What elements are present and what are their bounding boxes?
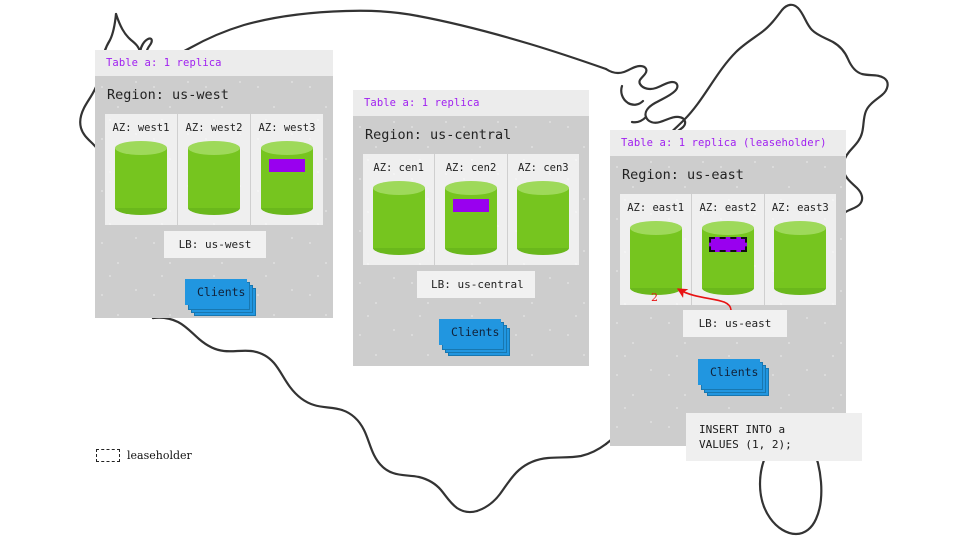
az-label-cen3: AZ: cen3	[508, 162, 579, 174]
legend-leaseholder: leaseholder	[96, 449, 192, 462]
cylinder-body	[630, 228, 682, 288]
clients-stack-us-east[interactable]: Clients	[698, 359, 760, 385]
az-label-west3: AZ: west3	[251, 122, 323, 134]
node-cylinder-east2[interactable]	[702, 221, 754, 295]
cylinder-top	[445, 181, 497, 195]
az-label-west1: AZ: west1	[105, 122, 177, 134]
cylinder-body	[373, 188, 425, 248]
load-balancer-us-west[interactable]: LB: us-west	[164, 231, 266, 258]
az-cell-east2[interactable]: AZ: east2	[692, 194, 764, 305]
replica-note-us-east: Table a: 1 replica (leaseholder)	[610, 130, 846, 156]
node-cylinder-west3[interactable]	[261, 141, 313, 215]
sql-statement-box: INSERT INTO a VALUES (1, 2);	[686, 413, 862, 461]
az-label-east1: AZ: east1	[620, 202, 691, 214]
leaseholder-marker-east2	[709, 237, 747, 252]
az-label-cen1: AZ: cen1	[363, 162, 434, 174]
az-label-west2: AZ: west2	[178, 122, 250, 134]
clients-stack-us-central[interactable]: Clients	[439, 319, 501, 345]
diagram-canvas: Table a: 1 replica Region: us-west AZ: w…	[0, 0, 960, 540]
cylinder-body	[774, 228, 826, 288]
clients-button-us-east[interactable]: Clients	[698, 359, 760, 385]
cylinder-top	[774, 221, 826, 235]
node-cylinder-west2[interactable]	[188, 141, 240, 215]
replica-marker-cen2	[453, 199, 489, 212]
cylinder-top	[517, 181, 569, 195]
cylinder-top	[373, 181, 425, 195]
arrow-step-label-2: 2	[651, 291, 658, 304]
cylinder-top	[261, 141, 313, 155]
cylinder-body	[517, 188, 569, 248]
region-title-us-east: Region: us-east	[620, 156, 836, 194]
node-cylinder-cen2[interactable]	[445, 181, 497, 255]
cylinder-top	[188, 141, 240, 155]
az-label-east2: AZ: east2	[692, 202, 763, 214]
region-panel-us-east: Table a: 1 replica (leaseholder) Region:…	[610, 130, 846, 446]
node-cylinder-west1[interactable]	[115, 141, 167, 215]
az-row-us-central: AZ: cen1 AZ: cen2	[363, 154, 579, 265]
az-cell-east3[interactable]: AZ: east3	[765, 194, 836, 305]
node-cylinder-east3[interactable]	[774, 221, 826, 295]
clients-button-us-central[interactable]: Clients	[439, 319, 501, 345]
az-label-east3: AZ: east3	[765, 202, 836, 214]
clients-button-us-west[interactable]: Clients	[185, 279, 247, 305]
node-cylinder-cen1[interactable]	[373, 181, 425, 255]
cylinder-body	[445, 188, 497, 248]
cylinder-body	[115, 148, 167, 208]
replica-marker-west3	[269, 159, 305, 172]
legend-label: leaseholder	[127, 449, 192, 462]
load-balancer-us-central[interactable]: LB: us-central	[417, 271, 535, 298]
az-cell-cen1[interactable]: AZ: cen1	[363, 154, 435, 265]
cylinder-top	[115, 141, 167, 155]
leaseholder-swatch-icon	[96, 449, 120, 462]
region-panel-us-central: Table a: 1 replica Region: us-central AZ…	[353, 90, 589, 366]
az-cell-cen2[interactable]: AZ: cen2	[435, 154, 507, 265]
region-title-us-central: Region: us-central	[363, 116, 579, 154]
node-cylinder-east1[interactable]	[630, 221, 682, 295]
az-cell-cen3[interactable]: AZ: cen3	[508, 154, 579, 265]
cylinder-top	[630, 221, 682, 235]
cylinder-body	[261, 148, 313, 208]
az-row-us-east: AZ: east1 AZ: east2	[620, 194, 836, 305]
az-cell-east1[interactable]: AZ: east1	[620, 194, 692, 305]
az-cell-west3[interactable]: AZ: west3	[251, 114, 323, 225]
az-label-cen2: AZ: cen2	[435, 162, 506, 174]
region-title-us-west: Region: us-west	[105, 76, 323, 114]
az-row-us-west: AZ: west1 AZ: west2 AZ	[105, 114, 323, 225]
region-panel-us-west: Table a: 1 replica Region: us-west AZ: w…	[95, 50, 333, 318]
node-cylinder-cen3[interactable]	[517, 181, 569, 255]
clients-stack-us-west[interactable]: Clients	[185, 279, 247, 305]
az-cell-west1[interactable]: AZ: west1	[105, 114, 178, 225]
replica-note-us-west: Table a: 1 replica	[95, 50, 333, 76]
load-balancer-us-east[interactable]: LB: us-east	[683, 310, 787, 337]
az-cell-west2[interactable]: AZ: west2	[178, 114, 251, 225]
cylinder-top	[702, 221, 754, 235]
replica-note-us-central: Table a: 1 replica	[353, 90, 589, 116]
cylinder-body	[188, 148, 240, 208]
